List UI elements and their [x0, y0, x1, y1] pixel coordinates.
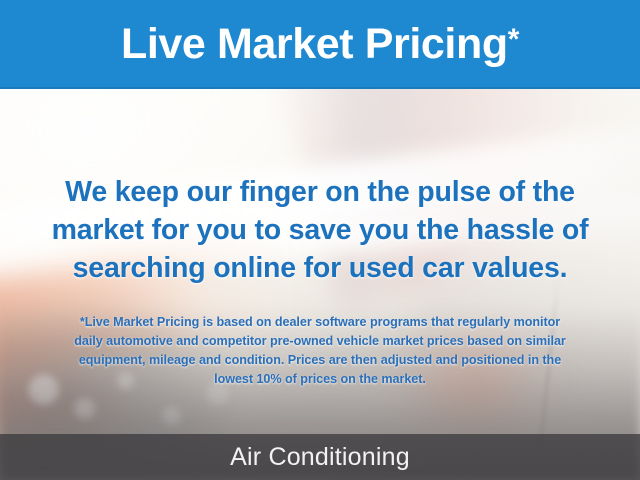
headline-line-2: market for you to save you the hassle of — [0, 211, 640, 249]
disclaimer-block: *Live Market Pricing is based on dealer … — [0, 313, 640, 389]
disclaimer-line-3: equipment, mileage and condition. Prices… — [0, 351, 640, 370]
page-title-text: Live Market Pricing — [121, 20, 508, 68]
disclaimer-line-1: *Live Market Pricing is based on dealer … — [0, 313, 640, 332]
headline-line-3: searching online for used car values. — [0, 249, 640, 287]
disclaimer-line-4: lowest 10% of prices on the market. — [0, 370, 640, 389]
page-title: Live Market Pricing* — [121, 23, 519, 66]
asterisk-marker: * — [508, 23, 519, 56]
caption-bar: Air Conditioning — [0, 434, 640, 480]
header-banner: Live Market Pricing* — [0, 0, 640, 89]
content-area: We keep our finger on the pulse of the m… — [0, 89, 640, 434]
headline-line-1: We keep our finger on the pulse of the — [0, 173, 640, 211]
caption-label: Air Conditioning — [230, 445, 410, 470]
live-market-pricing-slide: Live Market Pricing* We keep our finger … — [0, 0, 640, 480]
headline-block: We keep our finger on the pulse of the m… — [0, 173, 640, 287]
disclaimer-line-2: daily automotive and competitor pre-owne… — [0, 332, 640, 351]
